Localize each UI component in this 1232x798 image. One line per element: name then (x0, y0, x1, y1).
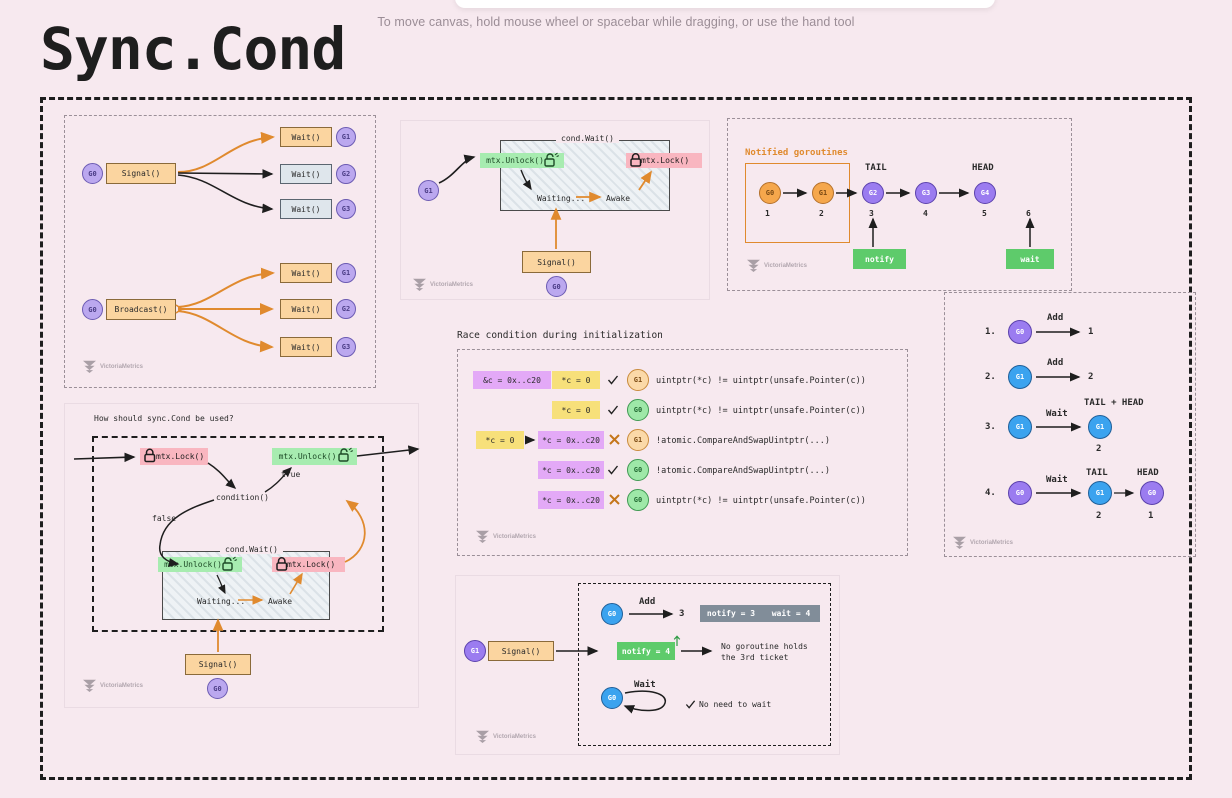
waiting-label-cw: Waiting... (537, 194, 585, 203)
node-g1-b1[interactable]: G1 (336, 263, 356, 283)
node-g1-nw[interactable]: G1 (464, 640, 486, 662)
step-num-3: 3. (985, 422, 996, 432)
step-num-1: 1. (985, 327, 996, 337)
race-val-3: *c = 0x..c20 (538, 461, 604, 479)
victoriametrics-logo-5: VictoriaMetrics (82, 679, 143, 692)
unlock-icon (543, 152, 559, 169)
victoriametrics-logo-7: VictoriaMetrics (475, 730, 536, 743)
lock-icon (275, 556, 289, 572)
ticket-2: 2 (819, 209, 824, 218)
check-icon-0 (607, 374, 619, 386)
step4-head-ticket: 1 (1148, 511, 1153, 521)
race-code-1: uintptr(*c) != uintptr(unsafe.Pointer(c)… (656, 406, 866, 416)
signal-box-usage[interactable]: Signal() (185, 654, 251, 675)
race-heading: Race condition during initialization (457, 330, 663, 341)
step4-op: Wait (1046, 475, 1068, 485)
node-g1-cw[interactable]: G1 (418, 180, 439, 201)
wait-button[interactable]: wait (1006, 249, 1054, 269)
victoriametrics-logo-6: VictoriaMetrics (475, 530, 536, 543)
true-label: true (281, 470, 300, 479)
notify-button[interactable]: notify (853, 249, 906, 269)
victoriametrics-logo: VictoriaMetrics (82, 360, 143, 373)
node-g0-cw[interactable]: G0 (546, 276, 567, 297)
node-g2-b2[interactable]: G2 (336, 299, 356, 319)
race-code-0: uintptr(*c) != uintptr(unsafe.Pointer(c)… (656, 376, 866, 386)
up-arrow-icon (673, 635, 681, 647)
node-g0-wait[interactable]: G0 (601, 687, 623, 709)
step1-result: 1 (1088, 327, 1093, 337)
cond-wait-frame-label-usage: cond.Wait() (220, 545, 283, 554)
node-g1-q[interactable]: G1 (812, 182, 834, 204)
step2-goroutine[interactable]: G1 (1008, 365, 1032, 389)
tail-label: TAIL (865, 163, 887, 173)
step1-op: Add (1047, 313, 1063, 323)
node-g3-b3[interactable]: G3 (336, 337, 356, 357)
ticket-6: 6 (1026, 209, 1031, 218)
wait-box-b3[interactable]: Wait() (280, 337, 332, 357)
race-code-3: !atomic.CompareAndSwapUintptr(...) (656, 466, 830, 476)
excalidraw-canvas[interactable]: To move canvas, hold mouse wheel or spac… (0, 0, 1232, 798)
logo-text: VictoriaMetrics (970, 540, 1013, 546)
node-g3-q[interactable]: G3 (915, 182, 937, 204)
step2-result: 2 (1088, 372, 1093, 382)
logo-text: VictoriaMetrics (493, 734, 536, 740)
no-holder-note-l1: No goroutine holds (721, 641, 808, 652)
step-num-2: 2. (985, 372, 996, 382)
step4-head-label: HEAD (1137, 468, 1159, 478)
unlock-icon (221, 556, 237, 573)
step4-tail-ticket: 2 (1096, 511, 1101, 521)
node-g1-s1[interactable]: G1 (336, 127, 356, 147)
race-val-2: *c = 0x..c20 (538, 431, 604, 449)
node-g0-add[interactable]: G0 (601, 603, 623, 625)
usage-question: How should sync.Cond be used? (94, 414, 234, 423)
awake-label-cw: Awake (606, 194, 630, 203)
step2-op: Add (1047, 358, 1063, 368)
step-num-4: 4. (985, 488, 996, 498)
step4-tail-node[interactable]: G1 (1088, 481, 1112, 505)
step3-op: Wait (1046, 409, 1068, 419)
race-val-4: *c = 0x..c20 (538, 491, 604, 509)
page-title: Sync.Cond (40, 20, 345, 78)
victoriametrics-logo-3: VictoriaMetrics (746, 259, 807, 272)
notified-group-box (745, 163, 850, 243)
node-g4-q[interactable]: G4 (974, 182, 996, 204)
check-icon-no-wait (685, 699, 696, 710)
awake-label-usage: Awake (268, 597, 292, 606)
chevron-stack-icon (475, 730, 490, 743)
race-val-0: *c = 0 (552, 371, 600, 389)
step4-tail-label: TAIL (1086, 468, 1108, 478)
node-g0-signal[interactable]: G0 (82, 163, 103, 184)
node-g0-broadcast[interactable]: G0 (82, 299, 103, 320)
node-g2-q[interactable]: G2 (862, 182, 884, 204)
wait-box-s3[interactable]: Wait() (280, 199, 332, 219)
signal-button[interactable]: Signal() (106, 163, 176, 184)
logo-text: VictoriaMetrics (100, 683, 143, 689)
cond-wait-frame-label: cond.Wait() (556, 134, 619, 143)
notified-goroutines-heading: Notified goroutines (745, 148, 848, 158)
chevron-stack-icon (82, 679, 97, 692)
toolbar-panel[interactable] (455, 0, 995, 8)
unlock-icon (337, 447, 353, 464)
no-holder-note-l2: the 3rd ticket (721, 652, 788, 663)
chevron-stack-icon (746, 259, 761, 272)
chevron-stack-icon (475, 530, 490, 543)
lock-icon (629, 152, 643, 168)
step3-queue-label: TAIL + HEAD (1084, 398, 1144, 408)
wait-box-s1[interactable]: Wait() (280, 127, 332, 147)
cross-icon-4 (608, 493, 621, 506)
ticket-1: 1 (765, 209, 770, 218)
race-goroutine-2[interactable]: G1 (627, 429, 649, 451)
lock-icon (143, 447, 157, 464)
signal-box-nw[interactable]: Signal() (488, 641, 554, 661)
node-g3-s3[interactable]: G3 (336, 199, 356, 219)
ticket-4: 4 (923, 209, 928, 218)
wait-box-b2[interactable]: Wait() (280, 299, 332, 319)
check-icon-3 (607, 464, 619, 476)
victoriametrics-logo-2: VictoriaMetrics (412, 278, 473, 291)
logo-text: VictoriaMetrics (100, 364, 143, 370)
race-goroutine-3[interactable]: G0 (627, 459, 649, 481)
race-addr-0: &c = 0x..c20 (473, 371, 551, 389)
notify-updated-badge: notify = 4 (617, 642, 675, 660)
race-goroutine-1[interactable]: G0 (627, 399, 649, 421)
status-wait-badge: wait = 4 (762, 605, 820, 622)
node-g0-usage[interactable]: G0 (207, 678, 228, 699)
waiting-label-usage: Waiting... (197, 597, 245, 606)
false-label: false (152, 514, 176, 523)
broadcast-button[interactable]: Broadcast() (106, 299, 176, 320)
step3-queue-ticket: 2 (1096, 444, 1101, 454)
wait-box-b1[interactable]: Wait() (280, 263, 332, 283)
wait-op-label: Wait (634, 680, 656, 690)
ticket-5: 5 (982, 209, 987, 218)
check-icon-1 (607, 404, 619, 416)
step4-head-node[interactable]: G0 (1140, 481, 1164, 505)
head-label: HEAD (972, 163, 994, 173)
victoriametrics-logo-4: VictoriaMetrics (952, 536, 1013, 549)
race-code-4: uintptr(*c) != uintptr(unsafe.Pointer(c)… (656, 496, 866, 506)
node-g0-q[interactable]: G0 (759, 182, 781, 204)
race-code-2: !atomic.CompareAndSwapUintptr(...) (656, 436, 830, 446)
step4-goroutine[interactable]: G0 (1008, 481, 1032, 505)
panel-ticket-steps (944, 292, 1196, 557)
step3-queue-node[interactable]: G1 (1088, 415, 1112, 439)
race-goroutine-4[interactable]: G0 (627, 489, 649, 511)
no-need-to-wait-note: No need to wait (699, 700, 771, 709)
add-result: 3 (679, 609, 684, 619)
chevron-stack-icon (412, 278, 427, 291)
logo-text: VictoriaMetrics (430, 282, 473, 288)
cross-icon-2 (608, 433, 621, 446)
step1-goroutine[interactable]: G0 (1008, 320, 1032, 344)
ticket-3: 3 (869, 209, 874, 218)
condition-label: condition() (216, 493, 269, 502)
race-pre-2: *c = 0 (476, 431, 524, 449)
add-op-label: Add (639, 597, 655, 607)
chevron-stack-icon (82, 360, 97, 373)
race-goroutine-0[interactable]: G1 (627, 369, 649, 391)
logo-text: VictoriaMetrics (493, 534, 536, 540)
chevron-stack-icon (952, 536, 967, 549)
step3-goroutine[interactable]: G1 (1008, 415, 1032, 439)
wait-box-s2[interactable]: Wait() (280, 164, 332, 184)
signal-box-cw[interactable]: Signal() (522, 251, 591, 273)
race-val-1: *c = 0 (552, 401, 600, 419)
status-notify-badge: notify = 3 (700, 605, 762, 622)
node-g2-s2[interactable]: G2 (336, 164, 356, 184)
logo-text: VictoriaMetrics (764, 263, 807, 269)
